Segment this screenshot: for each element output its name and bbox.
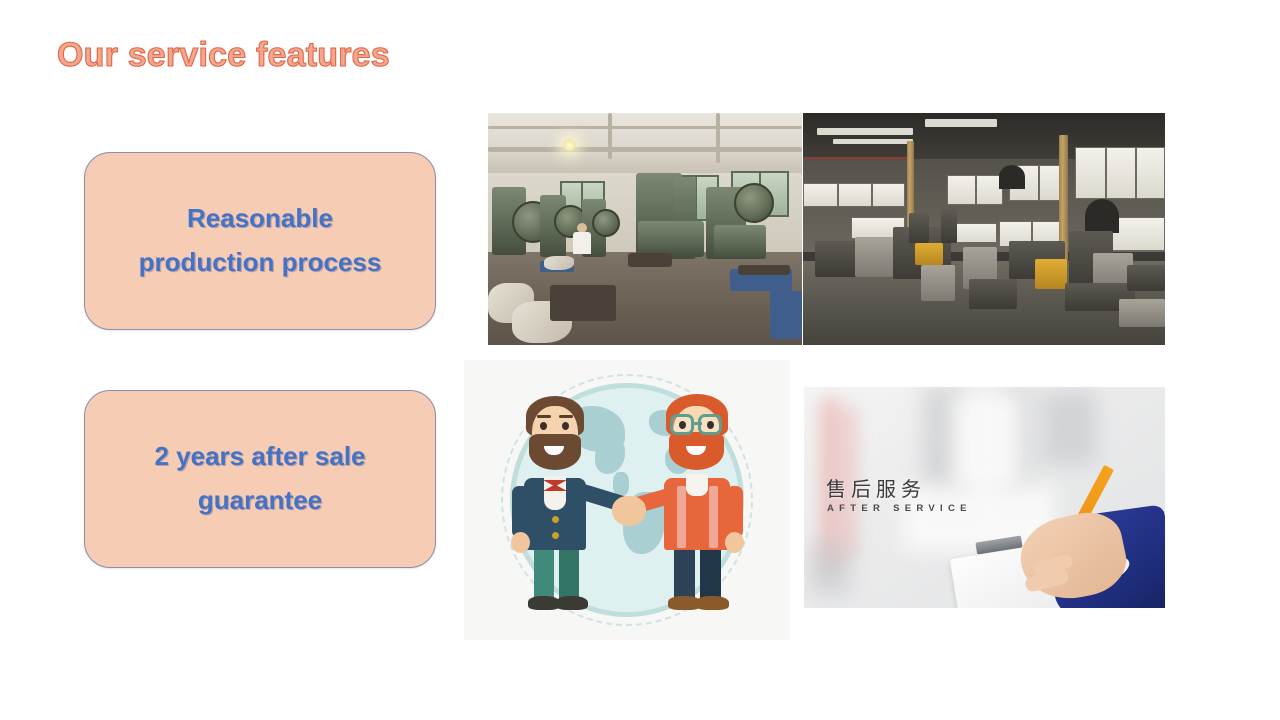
window	[803, 183, 905, 207]
machine	[941, 209, 957, 243]
hand-clasp	[612, 496, 646, 526]
ceiling	[488, 113, 802, 173]
ceiling-beam	[716, 113, 720, 163]
machine	[1127, 265, 1165, 291]
press-flywheel	[734, 183, 774, 223]
feature-line-1: Reasonable	[187, 203, 333, 233]
suspender	[677, 486, 686, 548]
slide-canvas: Our service features Reasonable producti…	[0, 0, 1280, 720]
background-blur	[810, 543, 850, 595]
photo-factory-presses	[488, 113, 802, 345]
arm-right	[726, 486, 743, 538]
photo-handshake	[464, 360, 790, 640]
background-blur	[952, 393, 1022, 489]
after-service-english-label: AFTER SERVICE	[827, 503, 972, 514]
floor-sack	[544, 256, 574, 270]
exhaust-duct	[1085, 199, 1119, 233]
feature-text: 2 years after sale guarantee	[138, 435, 381, 522]
eye	[540, 422, 547, 430]
eye	[562, 422, 569, 430]
exhaust-duct	[999, 165, 1025, 189]
shirt	[686, 474, 708, 496]
feature-line-1: 2 years after sale	[154, 441, 365, 471]
hand-left	[511, 532, 530, 553]
skylight	[817, 128, 913, 135]
floor-debris	[628, 253, 672, 267]
skylight	[833, 139, 913, 144]
window	[953, 223, 997, 243]
window-mullion	[1135, 147, 1137, 199]
machine	[1119, 299, 1165, 327]
machine	[815, 241, 859, 277]
feature-box-reasonable-production-process[interactable]: Reasonable production process	[84, 152, 436, 330]
window-mullion	[871, 183, 873, 207]
shoe	[696, 596, 729, 610]
hand-right	[725, 532, 744, 553]
ceiling-beam	[488, 126, 802, 129]
machine-yellow	[1035, 259, 1067, 289]
globe-landmass	[613, 472, 629, 496]
press-flywheel	[592, 209, 620, 237]
glasses-bridge	[694, 422, 702, 425]
feature-line-2: guarantee	[198, 485, 322, 515]
punch-press	[638, 221, 704, 257]
feature-text: Reasonable production process	[123, 197, 398, 284]
feature-box-two-years-after-sale-guarantee[interactable]: 2 years after sale guarantee	[84, 390, 436, 568]
ceiling-beam	[608, 113, 612, 159]
suspender	[709, 486, 718, 548]
eye	[679, 421, 686, 429]
window-mullion	[837, 183, 839, 207]
jacket-button	[552, 532, 559, 539]
machine	[969, 279, 1017, 309]
after-service-chinese-label: 售后服务	[826, 473, 926, 502]
machine	[921, 265, 955, 301]
window-mullion	[1105, 147, 1107, 199]
jacket-button	[552, 516, 559, 523]
eyebrow	[559, 415, 573, 418]
floor-equipment	[770, 291, 802, 339]
floor-debris	[550, 285, 616, 321]
ceiling-beam	[488, 147, 802, 152]
photo-after-service: 售后服务 AFTER SERVICE	[804, 387, 1165, 608]
punch-press	[714, 225, 766, 259]
skylight	[925, 119, 997, 127]
shoe	[556, 596, 588, 610]
background-blur	[1042, 391, 1096, 465]
floor-equipment	[738, 265, 790, 275]
window	[1075, 147, 1165, 199]
window-mullion	[1038, 165, 1040, 201]
window-mullion	[975, 175, 977, 205]
eye	[707, 421, 714, 429]
photo-factory-hall	[803, 113, 1165, 345]
feature-line-2: production process	[139, 247, 382, 277]
globe-landmass	[595, 440, 625, 474]
ceiling-lamp	[563, 139, 576, 152]
arm-left	[512, 486, 529, 538]
eyebrow	[537, 415, 551, 418]
machine	[909, 213, 929, 243]
page-title: Our service features	[57, 36, 390, 75]
worker-torso	[573, 232, 591, 254]
machine-yellow	[915, 243, 943, 265]
